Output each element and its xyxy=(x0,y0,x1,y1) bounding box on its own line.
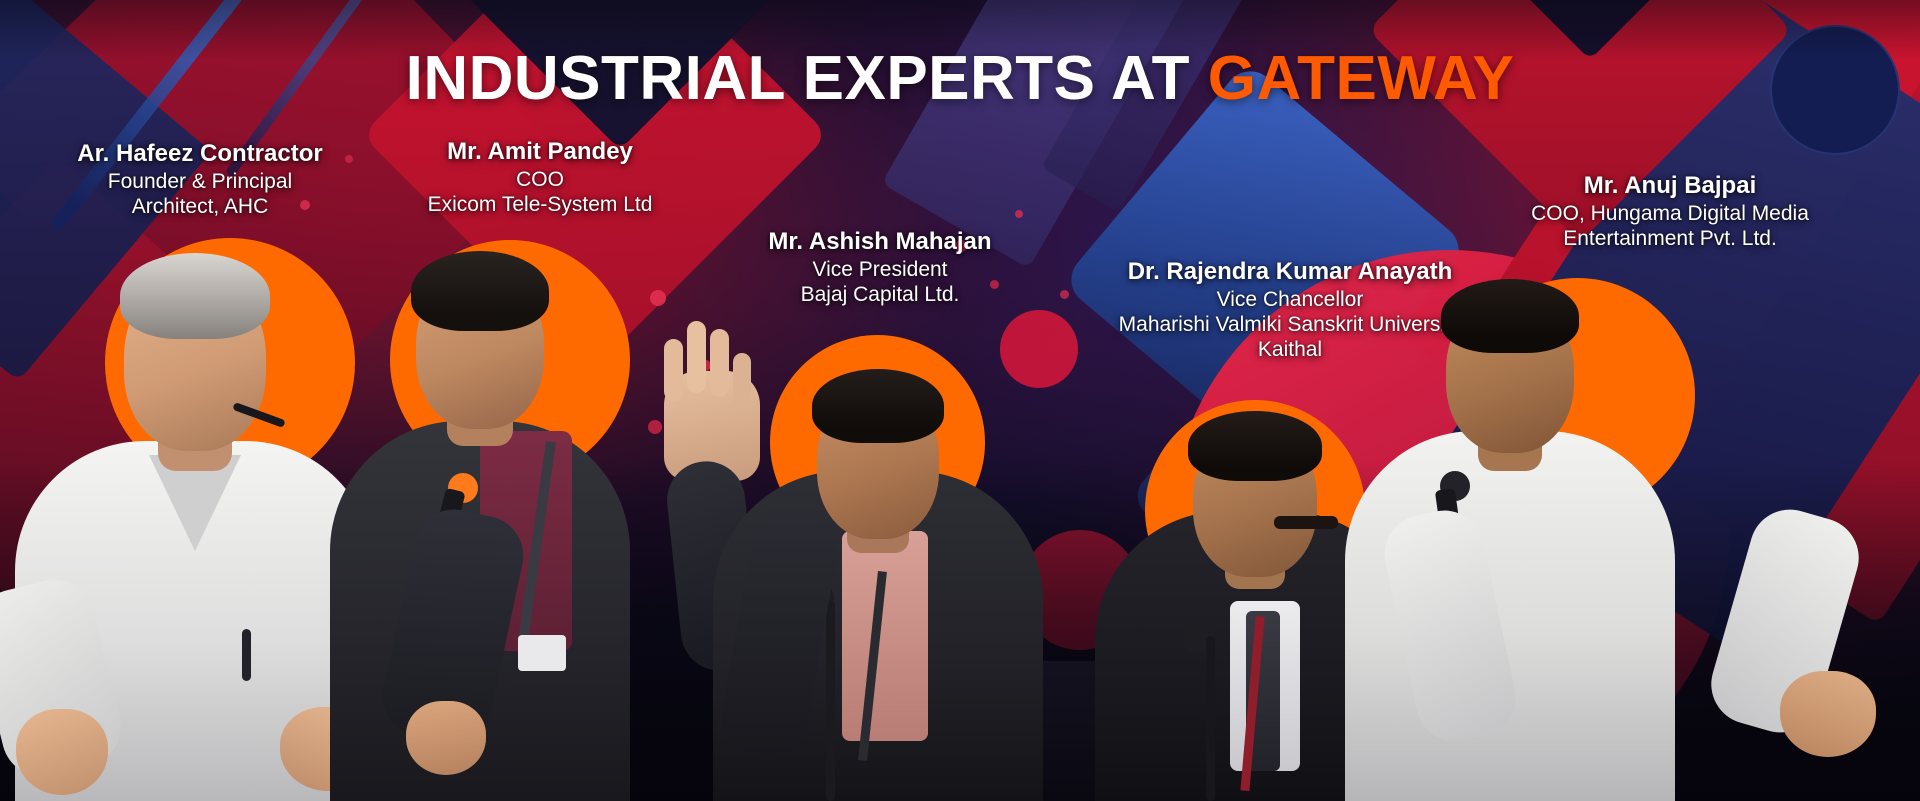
speaker-caption-anuj-bajpai: Mr. Anuj Bajpai COO, Hungama Digital Med… xyxy=(1420,172,1920,252)
speaker-4-moustache xyxy=(1274,516,1338,529)
speaker-name-3: Mr. Ashish Mahajan xyxy=(690,228,1070,256)
page-title-main: INDUSTRIAL EXPERTS AT xyxy=(406,44,1208,113)
speaker-card-anuj-bajpai: Mr. Anuj Bajpai COO, Hungama Digital Med… xyxy=(1440,0,1920,801)
speaker-line-3-2: Bajaj Capital Ltd. xyxy=(690,283,1070,308)
speaker-photo-anuj-bajpai xyxy=(1400,231,1920,801)
speaker-4-mic-stand xyxy=(1206,636,1215,801)
speaker-line-5-2: Entertainment Pvt. Ltd. xyxy=(1420,227,1920,252)
speaker-1-left-hand xyxy=(16,709,108,795)
speaker-5-right-hand xyxy=(1780,671,1876,757)
speaker-card-ashish-mahajan: Mr. Ashish Mahajan Vice President Bajaj … xyxy=(640,0,1120,801)
speaker-1-pocket-pen xyxy=(242,629,251,681)
speaker-2-hair xyxy=(411,251,549,331)
speaker-line-5-1: COO, Hungama Digital Media xyxy=(1420,202,1920,227)
speaker-5-torso xyxy=(1345,431,1675,801)
page-title: INDUSTRIAL EXPERTS AT GATEWAY xyxy=(0,48,1920,110)
speaker-4-hair xyxy=(1188,411,1322,481)
speaker-3-shirt xyxy=(842,531,928,741)
speaker-caption-ashish-mahajan: Mr. Ashish Mahajan Vice President Bajaj … xyxy=(690,228,1070,308)
speaker-5-hair xyxy=(1441,279,1579,353)
speaker-2-hand xyxy=(406,701,486,775)
speaker-line-3-1: Vice President xyxy=(690,258,1070,283)
industrial-experts-banner: INDUSTRIAL EXPERTS AT GATEWAY Ar. Hafeez… xyxy=(0,0,1920,801)
speaker-1-hair xyxy=(120,253,270,339)
speaker-3-hair xyxy=(812,369,944,443)
page-title-accent: GATEWAY xyxy=(1208,44,1515,113)
speaker-3-mic-stand xyxy=(826,601,835,801)
speaker-name-5: Mr. Anuj Bajpai xyxy=(1420,172,1920,200)
speaker-2-badge xyxy=(518,635,566,671)
